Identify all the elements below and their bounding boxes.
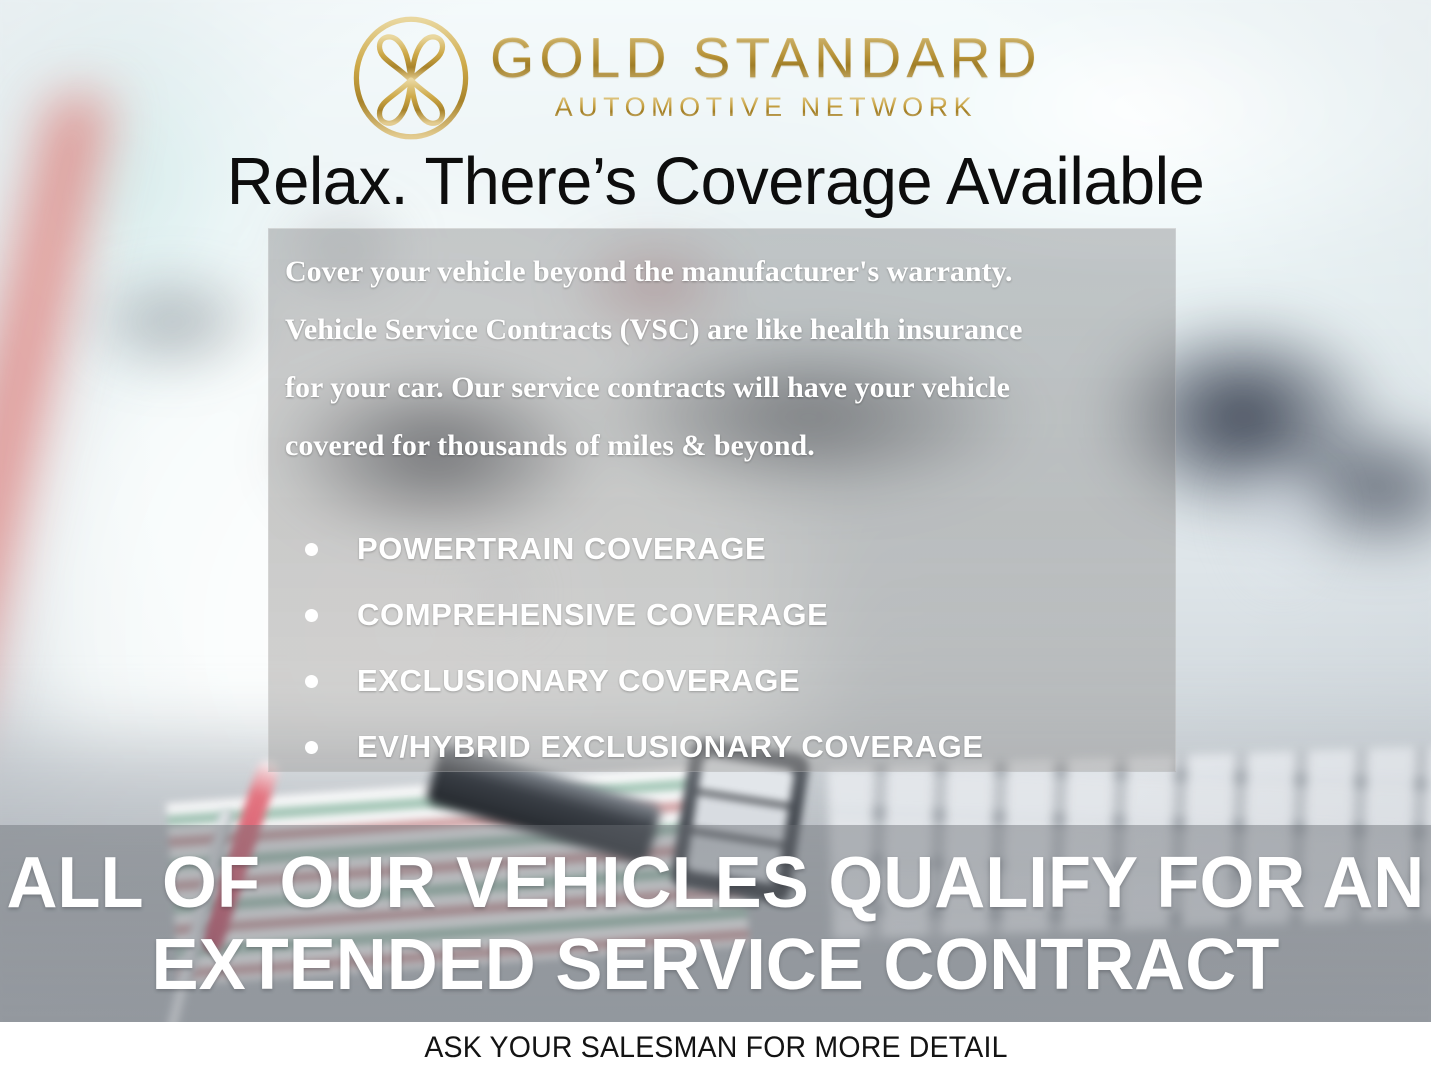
- bullet-dot-icon: [305, 543, 318, 556]
- coverage-description: Cover your vehicle beyond the manufactur…: [285, 243, 1145, 475]
- banner-line-1: ALL OF OUR VEHICLES QUALIFY FOR AN: [7, 842, 1425, 924]
- brand-subtitle: AUTOMOTIVE NETWORK: [555, 94, 978, 121]
- coverage-item-label: EV/HYBRID EXCLUSIONARY COVERAGE: [357, 729, 984, 765]
- footer-bar: ASK YOUR SALESMAN FOR MORE DETAIL: [0, 1022, 1431, 1073]
- page-title: Relax. There’s Coverage Available: [21, 148, 1409, 215]
- list-item: POWERTRAIN COVERAGE: [291, 516, 1155, 582]
- brand-logo: GOLD STANDARD AUTOMOTIVE NETWORK: [348, 14, 1042, 142]
- description-line-4: covered for thousands of miles & beyond.: [285, 417, 1145, 475]
- coverage-slide: GOLD STANDARD AUTOMOTIVE NETWORK Relax. …: [0, 0, 1431, 1073]
- bullet-dot-icon: [305, 741, 318, 754]
- brand-title: GOLD STANDARD: [490, 30, 1042, 87]
- coverage-panel: Cover your vehicle beyond the manufactur…: [268, 228, 1176, 772]
- coverage-list: POWERTRAIN COVERAGE COMPREHENSIVE COVERA…: [291, 516, 1155, 780]
- coverage-item-label: EXCLUSIONARY COVERAGE: [357, 663, 800, 699]
- coverage-item-label: POWERTRAIN COVERAGE: [357, 531, 766, 567]
- bullet-dot-icon: [305, 675, 318, 688]
- description-line-2: Vehicle Service Contracts (VSC) are like…: [285, 301, 1145, 359]
- list-item: EV/HYBRID EXCLUSIONARY COVERAGE: [291, 714, 1155, 780]
- list-item: EXCLUSIONARY COVERAGE: [291, 648, 1155, 714]
- qualify-banner: ALL OF OUR VEHICLES QUALIFY FOR AN EXTEN…: [0, 825, 1431, 1022]
- description-line-1: Cover your vehicle beyond the manufactur…: [285, 243, 1145, 301]
- bullet-dot-icon: [305, 609, 318, 622]
- banner-line-2: EXTENDED SERVICE CONTRACT: [152, 924, 1280, 1006]
- brand-wordmark: GOLD STANDARD AUTOMOTIVE NETWORK: [490, 30, 1042, 127]
- footer-text: ASK YOUR SALESMAN FOR MORE DETAIL: [424, 1031, 1007, 1065]
- gold-standard-knot-icon: [348, 15, 474, 141]
- description-line-3: for your car. Our service contracts will…: [285, 359, 1145, 417]
- list-item: COMPREHENSIVE COVERAGE: [291, 582, 1155, 648]
- coverage-item-label: COMPREHENSIVE COVERAGE: [357, 597, 828, 633]
